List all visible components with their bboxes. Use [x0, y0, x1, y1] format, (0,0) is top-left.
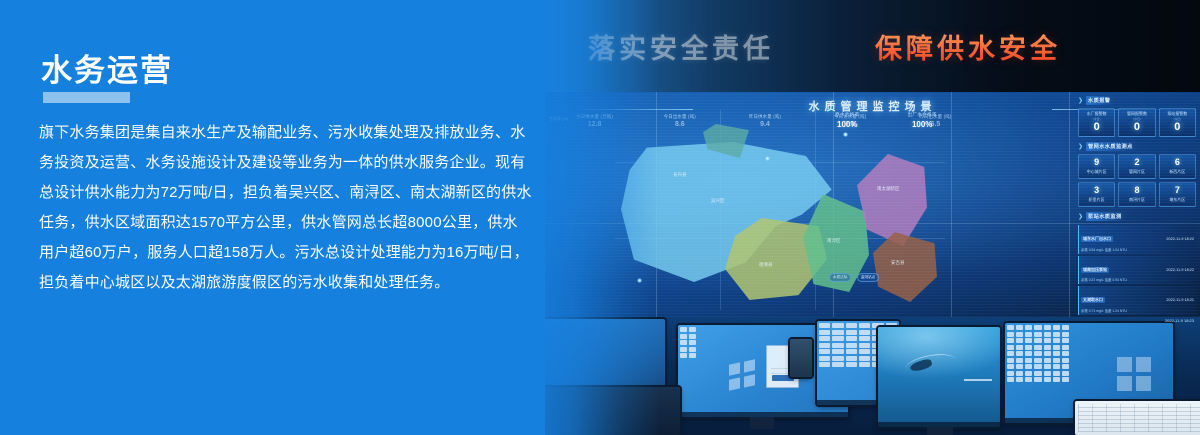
log-row[interactable]: 城南加压泵站 余氯 0.37 mg/L 浊度 0.93 NTU 2022-11-… — [1078, 256, 1196, 285]
monitor-point-cell[interactable]: 6 新西片区 — [1159, 154, 1196, 179]
alarm-card[interactable]: 水厂报警数 (今日) 0 — [1078, 108, 1115, 137]
alarm-card-value: 0 — [1161, 121, 1194, 133]
map-marker-dot — [843, 132, 848, 137]
alarm-card[interactable]: 管网报警数 (今日) 0 — [1118, 108, 1155, 137]
water-quality-log: 城东水厂出水口 余氯 0.54 mg/L 浊度 1.04 NTU 2022-11… — [1078, 225, 1196, 315]
title-underline-bar — [43, 92, 130, 103]
slogan-right: 保障供水安全 — [875, 27, 1061, 66]
monitor-point-label: 新西片区 — [1160, 169, 1195, 175]
log-row[interactable]: 城东水厂出水口 余氯 0.54 mg/L 浊度 1.04 NTU 2022-11… — [1078, 225, 1196, 254]
description-line: 任务，供水区域面积达1570平方公里，供水管网总长超8000公里，供水 — [39, 208, 559, 238]
monitor-diver — [878, 327, 1000, 427]
page-title: 水务运营 — [41, 55, 173, 86]
monitor-point-value: 2 — [1119, 158, 1154, 167]
log-time: 2022-11-9 18:22 — [1166, 268, 1194, 272]
dashboard-right-rail: ❯ 水质报警 水厂报警数 (今日) 0 管网报警数 (今日) 0 — [1078, 96, 1196, 317]
legend-chips: 水质达标 监测站点 — [829, 265, 880, 283]
pump-quality-label: 泵站水质监测 — [1086, 212, 1126, 221]
alarm-card-row: 水厂报警数 (今日) 0 管网报警数 (今日) 0 泵站报警数 (今日) — [1078, 108, 1196, 137]
log-metric: 余氯 0.71 mg/L 浊度 1.24 NTU — [1081, 308, 1164, 313]
description-line: 务投资及运营、水务设施设计及建设等业务为一体的供水服务企业。现有 — [39, 148, 559, 178]
map-district-label: 吴兴区 — [711, 198, 725, 204]
map-district-label: 南浔区 — [827, 238, 841, 244]
monitor-point-value: 6 — [1160, 158, 1195, 167]
pump-quality-header: ❯ 泵站水质监测 — [1078, 212, 1196, 221]
description-line: 旗下水务集团是集自来水生产及输配业务、污水收集处理及排放业务、水 — [39, 118, 559, 148]
alarm-card-value: 0 — [1120, 121, 1153, 133]
monitor-point-cell[interactable]: 3 织里片区 — [1078, 182, 1115, 207]
monitor-narrow — [790, 339, 812, 377]
alarm-section-header: ❯ 水质报警 — [1078, 96, 1196, 105]
log-title: 太湖取水口 — [1081, 297, 1105, 303]
monitor-point-value: 7 — [1160, 186, 1195, 195]
log-time: 2022-11-9 18:22 — [1166, 237, 1194, 241]
description-line: 担负着中心城区以及太湖旅游度假区的污水收集和处理任务。 — [39, 268, 559, 298]
map-district-label: 长兴县 — [673, 172, 687, 178]
log-row[interactable]: 太湖取水口 余氯 0.71 mg/L 浊度 1.24 NTU 2022-11-9… — [1078, 286, 1196, 315]
description-line: 用户超60万户，服务人口超158万人。污水总设计处理能力为16万吨/日， — [39, 238, 559, 268]
chevron-right-icon: ❯ — [1078, 98, 1083, 104]
map-district-label: 南太湖新区 — [877, 186, 900, 192]
monitor-point-label: 中心城片区 — [1079, 169, 1114, 175]
legend-chip[interactable]: 水质达标 — [829, 273, 851, 282]
monitor-point-label: 南浔片区 — [1119, 197, 1154, 203]
chevron-right-icon: ❯ — [1078, 144, 1083, 150]
map-marker-dot — [765, 156, 770, 161]
monitor-point-cell[interactable]: 9 中心城片区 — [1078, 154, 1115, 179]
map-district-label: 德清县 — [759, 262, 773, 268]
log-time: 2022-11-9 18:21 — [1166, 298, 1194, 302]
alarm-card-value: 0 — [1080, 121, 1113, 133]
banner-stage: 落实安全责任 保障供水安全 水质管理监控场景 今日供水量 (万吨) 12.8 — [0, 0, 1200, 435]
rail-timestamp: 2022-11-9 18:23 — [1165, 318, 1194, 323]
monitor-point-cell[interactable]: 2 管网片区 — [1118, 154, 1155, 179]
monitor-point-value: 9 — [1079, 158, 1114, 167]
monitor-point-cell[interactable]: 7 墩东片区 — [1159, 182, 1196, 207]
monitor-point-cell[interactable]: 8 南浔片区 — [1118, 182, 1155, 207]
log-title: 城东水厂出水口 — [1081, 236, 1113, 242]
monitor-point-label: 管网片区 — [1119, 169, 1154, 175]
description-text: 旗下水务集团是集自来水生产及输配业务、污水收集处理及排放业务、水 务投资及运营、… — [39, 118, 559, 298]
region-map: 吴兴区 南浔区 德清县 长兴县 安吉县 南太湖新区 — [615, 110, 945, 310]
log-title: 城南加压泵站 — [1081, 267, 1109, 273]
monitor-point-value: 3 — [1079, 186, 1114, 195]
monitor-point-label: 织里片区 — [1079, 197, 1114, 203]
alarm-header-label: 水质报警 — [1086, 96, 1114, 105]
monitor-points-header: ❯ 管网水水质监测点 — [1078, 142, 1196, 151]
monitor-point-label: 墩东片区 — [1160, 197, 1195, 203]
text-panel: 水务运营 旗下水务集团是集自来水生产及输配业务、污水收集处理及排放业务、水 务投… — [0, 0, 545, 435]
log-metric: 余氯 0.54 mg/L 浊度 1.04 NTU — [1081, 247, 1164, 252]
chevron-right-icon: ❯ — [1078, 214, 1083, 220]
map-district-label: 安吉县 — [891, 260, 905, 266]
monitor-point-value: 8 — [1119, 186, 1154, 195]
monitor-points-grid: 9 中心城片区 2 管网片区 6 新西片区 3 — [1078, 154, 1196, 207]
description-line: 总设计供水能力为72万吨/日，担负着吴兴区、南浔区、南太湖新区的供水 — [39, 178, 559, 208]
log-metric: 余氯 0.37 mg/L 浊度 0.93 NTU — [1081, 277, 1164, 282]
monitor-points-label: 管网水水质监测点 — [1086, 142, 1137, 151]
alarm-card[interactable]: 泵站报警数 (今日) 0 — [1159, 108, 1196, 137]
foreground-slab — [1075, 401, 1200, 435]
legend-chip[interactable]: 监测站点 — [857, 273, 879, 282]
